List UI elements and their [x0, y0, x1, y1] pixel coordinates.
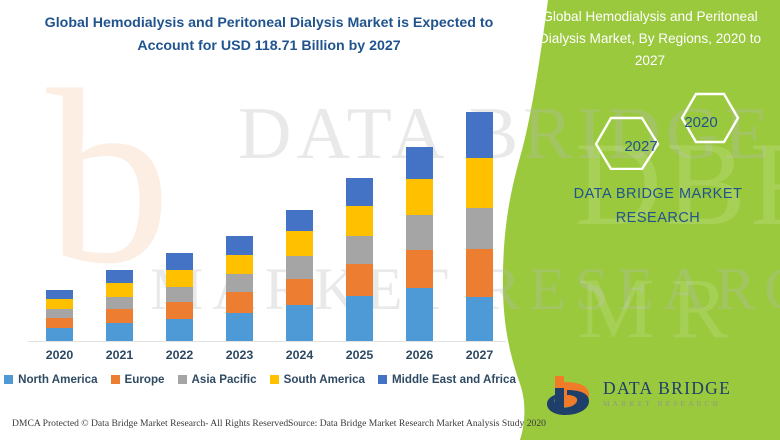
bar-segment[interactable] [46, 290, 73, 299]
bar-segment[interactable] [286, 256, 313, 279]
bar-segment[interactable] [346, 264, 373, 296]
legend-swatch-icon [111, 375, 120, 384]
bar-segment[interactable] [346, 178, 373, 206]
bar-segment[interactable] [226, 274, 253, 292]
bar-segment[interactable] [286, 305, 313, 341]
bar-column[interactable] [286, 210, 313, 341]
bar-segment[interactable] [406, 215, 433, 250]
bar-column[interactable] [466, 112, 493, 341]
bar-segment[interactable] [466, 112, 493, 158]
legend-label: North America [18, 373, 97, 386]
chart-legend: North AmericaEuropeAsia PacificSouth Ame… [0, 373, 520, 386]
bar-segment[interactable] [346, 296, 373, 341]
bar-segment[interactable] [166, 253, 193, 270]
brand-mark-icon [545, 374, 597, 418]
bar-segment[interactable] [46, 328, 73, 341]
bar-segment[interactable] [46, 309, 73, 318]
bar-segment[interactable] [406, 250, 433, 289]
hexagon-2020-label: 2020 [672, 114, 730, 131]
legend-swatch-icon [378, 375, 387, 384]
legend-item[interactable]: North America [4, 373, 97, 386]
bar-column[interactable] [106, 270, 133, 341]
bar-segment[interactable] [286, 231, 313, 256]
legend-label: Asia Pacific [192, 373, 257, 386]
bar-segment[interactable] [46, 299, 73, 309]
x-axis-label: 2027 [450, 348, 510, 362]
legend-swatch-icon [270, 375, 279, 384]
bar-segment[interactable] [466, 158, 493, 209]
legend-swatch-icon [4, 375, 13, 384]
bar-segment[interactable] [226, 255, 253, 275]
footer-source: Source: Data Bridge Market Research Mark… [288, 418, 546, 429]
bar-column[interactable] [346, 178, 373, 341]
x-axis-label: 2025 [330, 348, 390, 362]
legend-item[interactable]: Asia Pacific [178, 373, 257, 386]
bar-column[interactable] [406, 147, 433, 341]
stacked-bar-chart: 20202021202220232024202520262027 [0, 0, 520, 360]
x-axis-line [28, 341, 506, 342]
legend-item[interactable]: South America [270, 373, 365, 386]
legend-label: Middle East and Africa [392, 373, 516, 386]
chart-title: Global Hemodialysis and Peritoneal Dialy… [528, 6, 772, 72]
bar-column[interactable] [166, 253, 193, 341]
bar-segment[interactable] [466, 297, 493, 341]
legend-label: Europe [125, 373, 165, 386]
bar-segment[interactable] [166, 270, 193, 287]
x-axis-label: 2026 [390, 348, 450, 362]
legend-item[interactable]: Europe [111, 373, 165, 386]
bar-segment[interactable] [466, 249, 493, 297]
bar-segment[interactable] [106, 297, 133, 309]
bar-segment[interactable] [106, 309, 133, 323]
bar-column[interactable] [46, 290, 73, 341]
x-axis-label: 2021 [90, 348, 150, 362]
bar-segment[interactable] [406, 147, 433, 179]
brand-logo-subtitle: MARKET RESEARCH [603, 398, 731, 409]
bar-segment[interactable] [406, 179, 433, 215]
bar-segment[interactable] [106, 323, 133, 341]
bar-segment[interactable] [286, 279, 313, 305]
brand-logo-name: DATA BRIDGE [603, 378, 731, 398]
footer-copyright: DMCA Protected © Data Bridge Market Rese… [12, 418, 291, 429]
hexagon-2027-label: 2027 [612, 138, 670, 155]
brand-logo[interactable]: DATA BRIDGE MARKET RESEARCH [545, 374, 755, 420]
legend-swatch-icon [178, 375, 187, 384]
bar-segment[interactable] [46, 318, 73, 328]
bar-segment[interactable] [166, 319, 193, 341]
bar-segment[interactable] [226, 236, 253, 254]
bar-segment[interactable] [166, 287, 193, 302]
bar-segment[interactable] [226, 313, 253, 341]
bar-segment[interactable] [346, 206, 373, 236]
bar-segment[interactable] [106, 270, 133, 283]
brand-headline-line1: DATA BRIDGE MARKET [548, 182, 768, 206]
bar-column[interactable] [226, 236, 253, 341]
infographic-root: b DATA BRIDGE MARKET RESEARCH DBR MR Glo… [0, 0, 780, 440]
brand-headline-line2: RESEARCH [548, 206, 768, 230]
brand-headline: DATA BRIDGE MARKET RESEARCH [548, 182, 768, 230]
legend-label: South America [284, 373, 365, 386]
bar-segment[interactable] [406, 288, 433, 341]
bar-segment[interactable] [166, 302, 193, 319]
x-axis-label: 2022 [150, 348, 210, 362]
bar-segment[interactable] [106, 283, 133, 297]
brand-logo-text: DATA BRIDGE MARKET RESEARCH [603, 378, 731, 409]
bar-segment[interactable] [466, 208, 493, 249]
bar-segment[interactable] [286, 210, 313, 232]
x-axis-label: 2020 [30, 348, 90, 362]
legend-item[interactable]: Middle East and Africa [378, 373, 516, 386]
x-axis-label: 2024 [270, 348, 330, 362]
x-axis-label: 2023 [210, 348, 270, 362]
hexagon-group: 2027 2020 [588, 92, 748, 170]
bar-segment[interactable] [346, 236, 373, 265]
bar-segment[interactable] [226, 292, 253, 313]
